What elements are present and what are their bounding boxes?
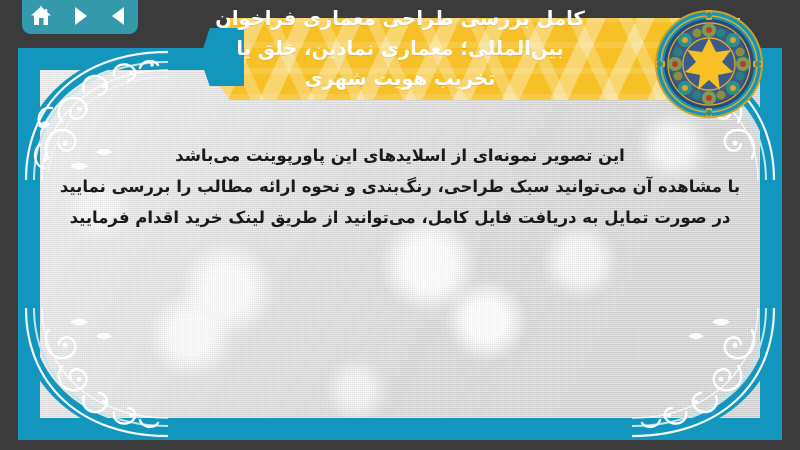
slide-viewer: این تصویر نمونه‌ای از اسلایدهای این پاور… xyxy=(0,0,800,450)
home-button[interactable] xyxy=(28,3,54,29)
triangle-left-icon xyxy=(108,5,130,27)
body-line-2: با مشاهده آن می‌توانید سبک طراحی، رنگ‌بن… xyxy=(46,171,754,202)
triangle-right-icon xyxy=(69,5,91,27)
home-icon xyxy=(29,4,53,28)
body-line-1: این تصویر نمونه‌ای از اسلایدهای این پاور… xyxy=(46,140,754,171)
slide-body: این تصویر نمونه‌ای از اسلایدهای این پاور… xyxy=(46,140,754,233)
body-line-3: در صورت تمایل به دریافت فایل کامل، می‌تو… xyxy=(46,202,754,233)
previous-slide-button[interactable] xyxy=(106,3,132,29)
next-slide-button[interactable] xyxy=(67,3,93,29)
islamic-star-medallion-icon xyxy=(653,8,765,120)
slide-content-area xyxy=(40,70,760,418)
slide-navigation-bar xyxy=(22,0,138,34)
